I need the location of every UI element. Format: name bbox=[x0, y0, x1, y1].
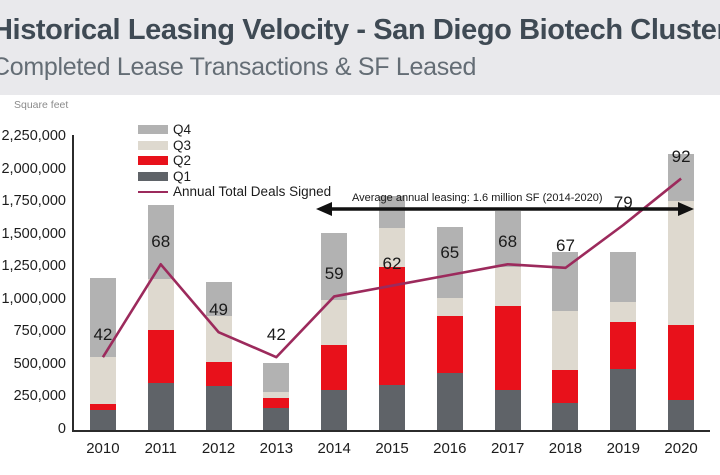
legend-color-swatch bbox=[138, 125, 168, 134]
bar-segment-q1 bbox=[321, 390, 347, 430]
y-axis-tick-label: 1,000,000 bbox=[0, 291, 66, 307]
bar-segment-q2 bbox=[668, 325, 694, 400]
bar-segment-q2 bbox=[610, 322, 636, 370]
bar-segment-q2 bbox=[321, 345, 347, 391]
stacked-bar[interactable] bbox=[668, 0, 694, 475]
bar-segment-q2 bbox=[206, 362, 232, 386]
bar-segment-q3 bbox=[668, 201, 694, 325]
bar-segment-q2 bbox=[552, 370, 578, 403]
legend-item-label: Q2 bbox=[173, 153, 191, 168]
bar-segment-q2 bbox=[90, 404, 116, 410]
bar-segment-q3 bbox=[610, 302, 636, 322]
bar-segment-q1 bbox=[379, 385, 405, 430]
line-point-label: 68 bbox=[138, 232, 184, 252]
stacked-bar[interactable] bbox=[321, 0, 347, 475]
legend-color-swatch bbox=[138, 141, 168, 150]
bar-segment-q2 bbox=[379, 267, 405, 385]
stacked-bar[interactable] bbox=[610, 0, 636, 475]
y-axis-tick-label: 2,250,000 bbox=[0, 128, 66, 144]
line-point-label: 92 bbox=[658, 147, 704, 167]
legend-line-swatch bbox=[138, 191, 168, 194]
line-point-label: 59 bbox=[311, 264, 357, 284]
bar-segment-q1 bbox=[206, 386, 232, 430]
x-axis-tick-label: 2012 bbox=[190, 440, 248, 457]
x-axis-tick-label: 2013 bbox=[247, 440, 305, 457]
bar-segment-q3 bbox=[321, 300, 347, 344]
y-axis-tick-label: 1,750,000 bbox=[0, 193, 66, 209]
stacked-bar[interactable] bbox=[437, 0, 463, 475]
legend-color-swatch bbox=[138, 172, 168, 181]
x-axis-tick-label: 2011 bbox=[132, 440, 190, 457]
y-axis-tick-label: 1,250,000 bbox=[0, 258, 66, 274]
bar-segment-q1 bbox=[148, 383, 174, 430]
x-axis-tick-label: 2010 bbox=[74, 440, 132, 457]
y-axis-tick-label: 2,000,000 bbox=[0, 161, 66, 177]
y-axis-tick-label: 250,000 bbox=[0, 388, 66, 404]
legend-color-swatch bbox=[138, 156, 168, 165]
bar-segment-q1 bbox=[552, 403, 578, 430]
line-point-label: 42 bbox=[253, 325, 299, 345]
bar-segment-q1 bbox=[437, 373, 463, 430]
annotation-double-arrow-icon bbox=[316, 200, 694, 218]
bar-segment-q3 bbox=[90, 357, 116, 404]
bar-segment-q2 bbox=[495, 306, 521, 389]
x-axis-tick-label: 2014 bbox=[305, 440, 363, 457]
bar-segment-q2 bbox=[148, 330, 174, 383]
legend-item-label: Annual Total Deals Signed bbox=[173, 184, 331, 199]
bar-segment-q1 bbox=[610, 369, 636, 430]
bar-segment-q1 bbox=[668, 400, 694, 430]
bar-segment-q1 bbox=[90, 410, 116, 430]
x-axis-tick-label: 2019 bbox=[594, 440, 652, 457]
y-axis-tick-label: 500,000 bbox=[0, 356, 66, 372]
bar-segment-q4 bbox=[552, 252, 578, 311]
y-axis-tick-label: 0 bbox=[0, 421, 66, 437]
x-axis-tick-label: 2015 bbox=[363, 440, 421, 457]
line-point-label: 67 bbox=[542, 236, 588, 256]
line-point-label: 65 bbox=[427, 243, 473, 263]
line-point-label: 49 bbox=[196, 300, 242, 320]
bar-segment-q3 bbox=[206, 316, 232, 362]
plot-area: 0250,000500,000750,0001,000,0001,250,000… bbox=[0, 0, 720, 475]
legend-item-q1[interactable]: Q1 bbox=[138, 168, 331, 184]
x-axis-tick-label: 2020 bbox=[652, 440, 710, 457]
legend-item-annual-total-deals-signed[interactable]: Annual Total Deals Signed bbox=[138, 183, 331, 199]
bar-segment-q2 bbox=[263, 398, 289, 408]
x-axis-tick-label: 2017 bbox=[479, 440, 537, 457]
chart-page: Historical Leasing Velocity - San Diego … bbox=[0, 0, 720, 475]
legend-item-q4[interactable]: Q4 bbox=[138, 121, 331, 137]
bar-segment-q3 bbox=[495, 267, 521, 306]
legend-item-q3[interactable]: Q3 bbox=[138, 137, 331, 153]
line-point-label: 62 bbox=[369, 254, 415, 274]
stacked-bar[interactable] bbox=[263, 0, 289, 475]
bar-segment-q3 bbox=[148, 279, 174, 330]
x-axis-tick-label: 2016 bbox=[421, 440, 479, 457]
y-axis-tick-label: 1,500,000 bbox=[0, 226, 66, 242]
line-point-label: 68 bbox=[485, 232, 531, 252]
bar-segment-q3 bbox=[263, 392, 289, 398]
stacked-bar[interactable] bbox=[206, 0, 232, 475]
line-point-label: 42 bbox=[80, 325, 126, 345]
bar-segment-q4 bbox=[263, 363, 289, 392]
legend-item-label: Q4 bbox=[173, 122, 191, 137]
chart-legend: Q4Q3Q2Q1Annual Total Deals Signed bbox=[138, 121, 331, 199]
y-axis-tick-label: 750,000 bbox=[0, 323, 66, 339]
x-axis-tick-label: 2018 bbox=[536, 440, 594, 457]
bar-segment-q1 bbox=[263, 408, 289, 430]
bar-segment-q4 bbox=[610, 252, 636, 303]
legend-item-q2[interactable]: Q2 bbox=[138, 152, 331, 168]
legend-item-label: Q1 bbox=[173, 169, 191, 184]
bar-segment-q2 bbox=[437, 316, 463, 373]
stacked-bar[interactable] bbox=[379, 0, 405, 475]
bar-segment-q1 bbox=[495, 390, 521, 430]
bar-segment-q3 bbox=[552, 311, 578, 370]
legend-item-label: Q3 bbox=[173, 138, 191, 153]
y-axis-line bbox=[72, 135, 74, 432]
stacked-bar[interactable] bbox=[90, 0, 116, 475]
bar-segment-q3 bbox=[437, 298, 463, 316]
